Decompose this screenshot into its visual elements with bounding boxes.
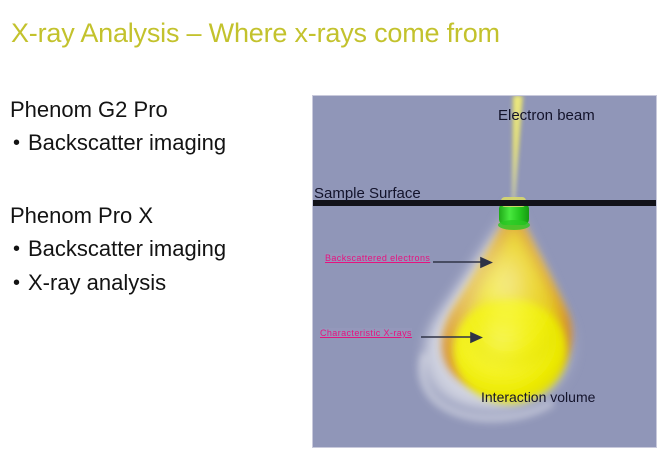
product-heading-phenom-g2-pro: Phenom G2 Pro: [10, 94, 305, 126]
list-item: • Backscatter imaging: [10, 126, 305, 160]
label-sample-surface: Sample Surface: [314, 185, 421, 202]
annotation-characteristic-xrays: Characteristic X-rays: [320, 328, 412, 338]
page-title: X-ray Analysis – Where x-rays come from: [11, 16, 661, 50]
backscattered-electrons-arrow: [433, 258, 491, 267]
bullet-label: X-ray analysis: [28, 266, 166, 300]
bullet-marker-icon: •: [10, 126, 28, 160]
list-item: • Backscatter imaging: [10, 232, 305, 266]
interaction-volume-graphic: [422, 202, 573, 418]
list-item: • X-ray analysis: [10, 266, 305, 300]
label-electron-beam: Electron beam: [498, 107, 595, 124]
bullet-label: Backscatter imaging: [28, 126, 226, 160]
product-group-phenom-g2-pro: Phenom G2 Pro • Backscatter imaging: [10, 94, 305, 160]
product-heading-phenom-pro-x: Phenom Pro X: [10, 200, 305, 232]
bullet-marker-icon: •: [10, 266, 28, 300]
label-interaction-volume: Interaction volume: [481, 389, 595, 405]
interaction-volume-diagram: Electron beam Sample Surface Interaction…: [313, 96, 656, 447]
bullet-label: Backscatter imaging: [28, 232, 226, 266]
bullet-marker-icon: •: [10, 232, 28, 266]
slide-body-text: Phenom G2 Pro • Backscatter imaging Phen…: [10, 94, 305, 316]
product-group-phenom-pro-x: Phenom Pro X • Backscatter imaging • X-r…: [10, 200, 305, 300]
section-spacer: [10, 176, 305, 200]
annotation-backscattered-electrons: Backscattered electrons: [325, 253, 430, 263]
